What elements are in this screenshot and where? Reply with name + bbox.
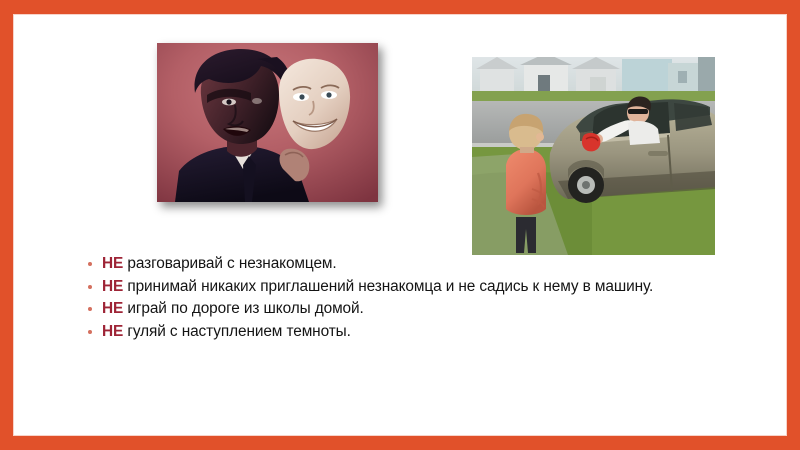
list-item: НЕ гуляй с наступлением темноты. [80,321,730,344]
rule-text: принимай никаких приглашений незнакомца … [123,278,653,295]
rule-text: гуляй с наступлением темноты. [123,323,351,340]
slide-content-area: НЕ разговаривай с незнакомцем. НЕ приним… [14,15,786,435]
rule-text: разговаривай с незнакомцем. [123,255,336,272]
bullet-dot-icon [88,307,92,311]
safety-rules-list: НЕ разговаривай с незнакомцем. НЕ приним… [80,253,730,343]
boy-car-illustration [472,57,715,255]
list-item: НЕ играй по дороге из школы домой. [80,298,730,321]
negation-word: НЕ [102,323,123,340]
negation-word: НЕ [102,300,123,317]
bullet-dot-icon [88,285,92,289]
list-item: НЕ разговаривай с незнакомцем. [80,253,730,276]
man-mask-illustration [157,43,378,202]
image-boy-at-stranger-car [472,57,715,255]
slide: НЕ разговаривай с незнакомцем. НЕ приним… [0,0,800,450]
image-man-removing-smiling-mask [157,43,378,202]
list-item: НЕ принимай никаких приглашений незнаком… [80,276,730,299]
negation-word: НЕ [102,255,123,272]
rule-text: играй по дороге из школы домой. [123,300,364,317]
negation-word: НЕ [102,278,123,295]
bullet-dot-icon [88,330,92,334]
bullet-dot-icon [88,262,92,266]
